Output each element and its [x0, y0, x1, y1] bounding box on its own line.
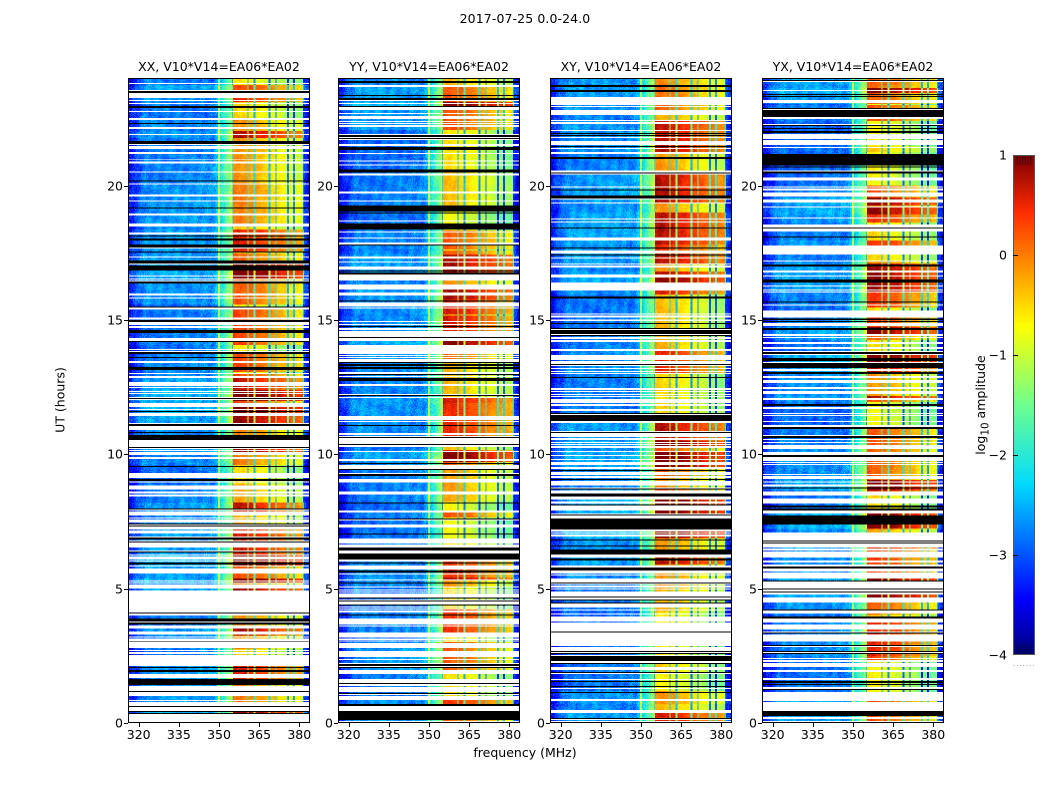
colorbar-tick-label: −3: [989, 548, 1007, 563]
colorbar-label-base: log: [973, 436, 988, 455]
colorbar-tick-label: −2: [989, 448, 1007, 463]
colorbar-tick-label: 1: [999, 148, 1007, 163]
colorbar-gradient: [1014, 156, 1034, 654]
colorbar-label-tail: amplitude: [973, 355, 988, 422]
colorbar-tick-label: −4: [989, 648, 1007, 663]
colorbar-label-subscript: 10: [979, 422, 991, 435]
colorbar[interactable]: [1013, 155, 1035, 655]
colorbar-label: log10 amplitude: [973, 355, 992, 454]
figure-canvas: 2017-07-25 0.0-24.0 UT (hours) frequency…: [0, 0, 1050, 800]
colorbar-ticks: 10−1−2−3−4: [0, 0, 1013, 800]
colorbar-tick-label: 0: [999, 248, 1007, 263]
colorbar-under-marker: .......: [1013, 660, 1035, 667]
colorbar-tick-label: −1: [989, 348, 1007, 363]
